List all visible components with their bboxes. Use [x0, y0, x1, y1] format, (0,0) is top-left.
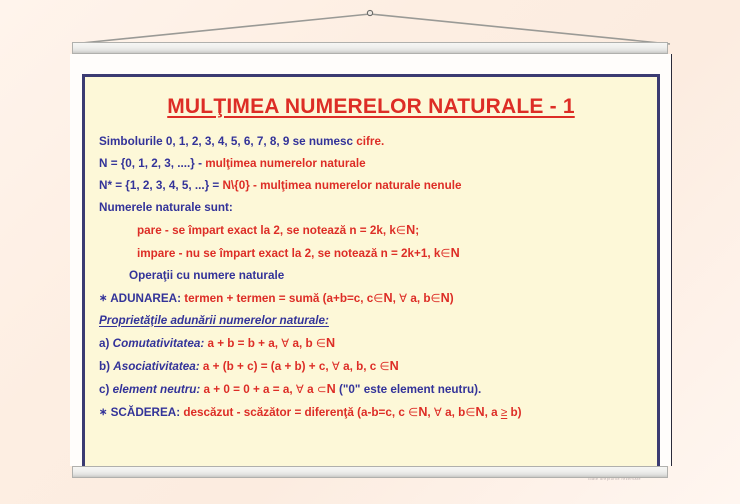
line1-text-a: Simbolurile 0, 1, 2, 3, 4, 5, 6, 7, 8, 9… — [99, 135, 356, 148]
element-of-icon: ∈ — [379, 360, 389, 373]
line8-set-n-1: N — [383, 291, 392, 305]
line13-set-n-2: N — [476, 405, 485, 419]
line12-text-b: a — [304, 383, 317, 396]
element-of-icon: ∈ — [430, 292, 440, 305]
line8-text-b: termen + termen = sumă (a+b=c, c — [184, 292, 373, 305]
line13-text-e: , a — [485, 406, 501, 419]
content-line-properties-heading: Proprietăţile adunării numerelor natural… — [99, 314, 643, 327]
element-of-icon: ∈ — [396, 224, 406, 237]
content-line-neutral-element: c) element neutru: a + 0 = 0 + a = a, ∀ … — [99, 382, 643, 396]
line13-end: b) — [507, 406, 521, 419]
line10-text-a: a + b = b + a, — [204, 337, 281, 350]
line12-term: element neutru: — [113, 383, 201, 396]
line11-term: Asociativitatea: — [113, 360, 199, 373]
for-all-icon: ∀ — [296, 383, 304, 396]
line12-label: c) — [99, 383, 113, 396]
line10-set-n: N — [326, 336, 335, 350]
subset-icon: ⊂ — [317, 383, 327, 396]
hanging-cord-svg — [0, 0, 740, 46]
line8-text-d: a, b — [407, 292, 430, 305]
content-line-odd: impare - nu se împart exact la 2, se not… — [99, 246, 643, 260]
line12-text-a: a + 0 = 0 + a = a, — [200, 383, 296, 396]
cord-line — [72, 14, 670, 44]
asterisk-bullet-icon: ∗ — [99, 293, 107, 304]
for-all-icon: ∀ — [281, 337, 289, 350]
line13-text-d: a, b — [442, 406, 465, 419]
line10-text-b: a, b — [289, 337, 316, 350]
line11-set-n: N — [390, 359, 399, 373]
poster-board: MULŢIMEA NUMERELOR NATURALE - 1 Simbolur… — [82, 74, 660, 470]
line10-term: Comutativitatea: — [113, 337, 205, 350]
line6-set-n: N — [451, 246, 460, 260]
line12-set-n: N — [327, 382, 336, 396]
line12-end: ("0" este element neutru). — [336, 383, 482, 396]
line13-text-b: descăzut - scăzător = diferenţă (a-b=c, … — [183, 406, 408, 419]
line6-text: impare - nu se împart exact la 2, se not… — [137, 247, 440, 260]
content-line-symbols: Simbolurile 0, 1, 2, 3, 4, 5, 6, 7, 8, 9… — [99, 135, 643, 148]
line8-set-n-2: N — [441, 291, 450, 305]
line11-label: b) — [99, 360, 113, 373]
element-of-icon: ∈ — [373, 292, 383, 305]
line9-text: Proprietăţile adunării numerelor natural… — [99, 314, 329, 327]
line10-label: a) — [99, 337, 113, 350]
content-line-set-n: N = {0, 1, 2, 3, ....} - mulţimea numere… — [99, 157, 643, 170]
element-of-icon: ∈ — [316, 337, 326, 350]
line13-label: SCĂDEREA: — [111, 406, 184, 419]
line5-end: ; — [415, 224, 419, 237]
content-line-addition: ∗ ADUNAREA: termen + termen = sumă (a+b=… — [99, 291, 643, 305]
poster-frame: MULŢIMEA NUMERELOR NATURALE - 1 Simbolur… — [70, 42, 672, 478]
content-line-naturals-are: Numerele naturale sunt: — [99, 201, 643, 214]
element-of-icon: ∈ — [465, 406, 475, 419]
content-line-operations-heading: Operaţii cu numere naturale — [99, 269, 643, 282]
content-line-subtraction: ∗ SCĂDEREA: descăzut - scăzător = difere… — [99, 405, 643, 419]
for-all-icon: ∀ — [332, 360, 340, 373]
content-line-commutativity: a) Comutativitatea: a + b = b + a, ∀ a, … — [99, 336, 643, 350]
element-of-icon: ∈ — [408, 406, 418, 419]
page-title: MULŢIMEA NUMERELOR NATURALE - 1 — [99, 95, 643, 119]
asterisk-bullet-icon: ∗ — [99, 407, 107, 418]
line7-text: Operaţii cu numere naturale — [129, 269, 284, 282]
frame-rail-top — [72, 42, 668, 54]
line3-text-a: N* = {1, 2, 3, 4, 5, ...} = — [99, 179, 222, 192]
line5-set-n: N — [406, 223, 415, 237]
for-all-icon: ∀ — [434, 406, 442, 419]
for-all-icon: ∀ — [399, 292, 407, 305]
line2-text-a: N = {0, 1, 2, 3, ....} - — [99, 157, 205, 170]
line2-text-b: mulţimea numerelor naturale — [205, 157, 365, 170]
line3-text-b: N\{0} - mulţimea numerelor naturale nenu… — [222, 179, 461, 192]
line11-text-a: a + (b + c) = (a + b) + c, — [200, 360, 332, 373]
poster-sheet: MULŢIMEA NUMERELOR NATURALE - 1 Simbolur… — [70, 54, 672, 466]
line5-text: pare - se împart exact la 2, se notează … — [137, 224, 396, 237]
frame-rail-bottom — [72, 466, 668, 478]
content-line-even: pare - se împart exact la 2, se notează … — [99, 223, 643, 237]
element-of-icon: ∈ — [440, 247, 450, 260]
content-line-set-n-star: N* = {1, 2, 3, 4, 5, ...} = N\{0} - mulţ… — [99, 179, 643, 192]
line4-text: Numerele naturale sunt: — [99, 201, 233, 214]
line8-label: ADUNAREA: — [110, 292, 184, 305]
line8-end: ) — [450, 292, 454, 305]
hook-icon — [367, 10, 372, 15]
line1-text-b: cifre. — [356, 135, 384, 148]
hanging-cord-area — [0, 0, 740, 46]
line11-text-b: a, b, c — [340, 360, 380, 373]
content-line-associativity: b) Asociativitatea: a + (b + c) = (a + b… — [99, 359, 643, 373]
